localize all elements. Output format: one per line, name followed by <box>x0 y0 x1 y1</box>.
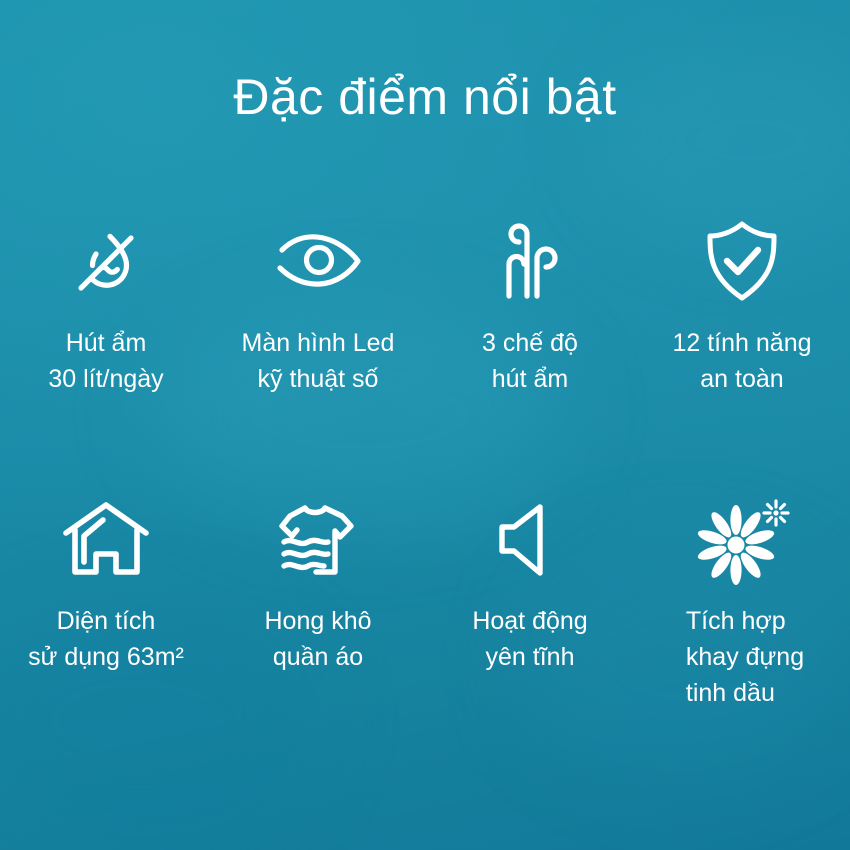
feature-label: Diện tích sử dụng 63m² <box>28 603 184 675</box>
feature-label: Tích hợp khay đựng tinh dầu <box>686 603 804 711</box>
feature-item-dehumidify: Hút ẩm 30 lít/ngày <box>0 205 212 485</box>
flower-aroma-icon <box>692 485 792 595</box>
feature-item-coverage-area: Diện tích sử dụng 63m² <box>0 485 212 785</box>
feature-label: Hút ẩm 30 lít/ngày <box>48 325 163 397</box>
feature-grid: Hút ẩm 30 lít/ngày Màn hình Led kỹ thuật… <box>0 205 850 785</box>
feature-item-dry-clothes: Hong khô quần áo <box>212 485 424 785</box>
feature-label: 12 tính năng an toàn <box>672 325 811 397</box>
shield-check-icon <box>702 205 782 317</box>
house-icon <box>60 485 152 595</box>
feature-item-safety: 12 tính năng an toàn <box>636 205 848 485</box>
feature-item-quiet-operation: Hoạt động yên tĩnh <box>424 485 636 785</box>
speaker-mute-icon <box>494 485 566 595</box>
feature-label: Hoạt động yên tĩnh <box>472 603 587 675</box>
tshirt-dry-icon <box>272 485 364 595</box>
feature-item-three-modes: 3 chế độ hút ẩm <box>424 205 636 485</box>
feature-label: 3 chế độ hút ẩm <box>482 325 578 397</box>
feature-label: Màn hình Led kỹ thuật số <box>242 325 395 397</box>
humidity-off-icon <box>63 205 149 317</box>
feature-item-led-display: Màn hình Led kỹ thuật số <box>212 205 424 485</box>
three-modes-icon <box>493 205 567 317</box>
feature-highlights-page: Đặc điểm nổi bật Hút ẩm 30 lít/ngày <box>0 0 850 850</box>
page-title: Đặc điểm nổi bật <box>0 66 850 128</box>
feature-item-aroma-tray: Tích hợp khay đựng tinh dầu <box>636 485 848 785</box>
eye-icon <box>270 205 366 317</box>
feature-label: Hong khô quần áo <box>264 603 371 675</box>
